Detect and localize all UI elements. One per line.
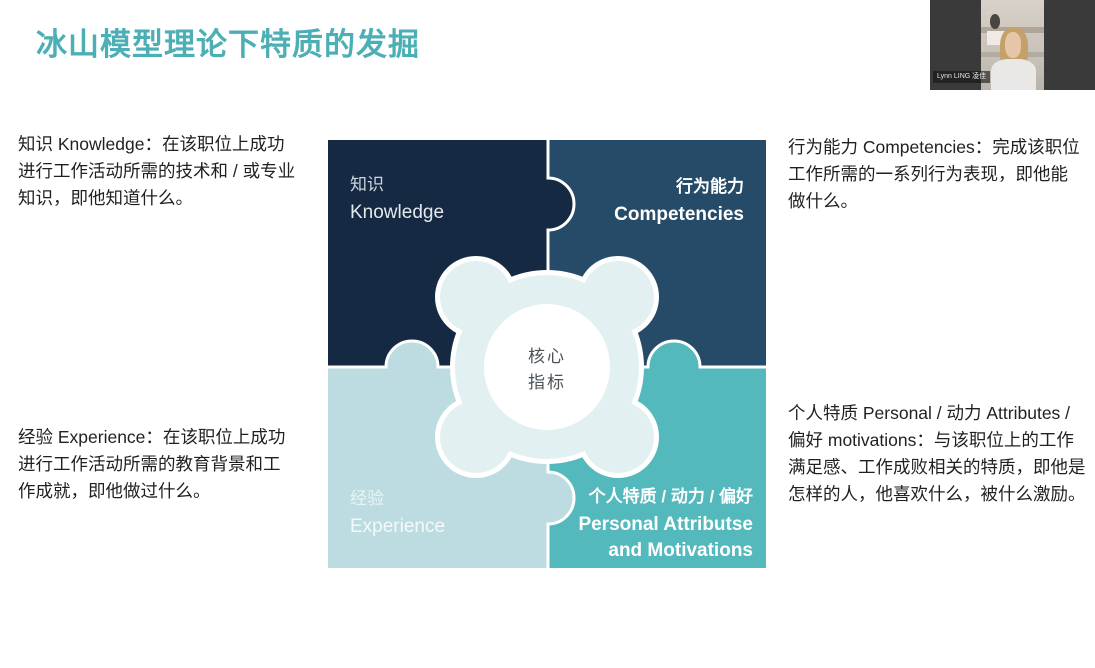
description-experience: 经验 Experience：在该职位上成功进行工作活动所需的教育背景和工作成就，… xyxy=(18,424,296,505)
description-personal-attributes: 个人特质 Personal / 动力 Attributes / 偏好 motiv… xyxy=(788,400,1086,508)
core-hub xyxy=(435,256,659,478)
participant-face xyxy=(1005,32,1021,57)
description-knowledge: 知识 Knowledge：在该职位上成功进行工作活动所需的技术和 / 或专业知识… xyxy=(18,131,296,212)
core-label-line1: 核心 xyxy=(528,347,566,366)
page-title: 冰山模型理论下特质的发掘 xyxy=(36,26,420,63)
participant-name-label: Lynn LING 凌佳 xyxy=(933,71,990,83)
quadrant-competencies-cn: 行为能力 xyxy=(675,176,744,196)
quadrant-competencies-en: Competencies xyxy=(614,204,744,225)
puzzle-diagram: 知识 Knowledge 行为能力 Competencies 经验 Experi… xyxy=(328,140,766,568)
core-label-line2: 指标 xyxy=(528,373,566,392)
quadrant-personal-en-line2: and Motivations xyxy=(608,540,753,561)
video-participant-tile[interactable]: Lynn LING 凌佳 xyxy=(930,0,1095,90)
quadrant-knowledge-en: Knowledge xyxy=(350,202,444,223)
description-competencies: 行为能力 Competencies：完成该职位工作所需的一系列行为表现，即他能做… xyxy=(788,134,1080,215)
quadrant-personal-cn: 个人特质 / 动力 / 偏好 xyxy=(588,486,753,506)
quadrant-experience-en: Experience xyxy=(350,516,445,537)
background-object-icon xyxy=(990,14,1000,28)
quadrant-experience-cn: 经验 xyxy=(350,489,384,508)
video-feed xyxy=(981,0,1044,90)
participant-body xyxy=(991,59,1036,90)
quadrant-knowledge-cn: 知识 xyxy=(350,175,384,194)
quadrant-personal-en-line1: Personal Attributse xyxy=(578,514,753,535)
